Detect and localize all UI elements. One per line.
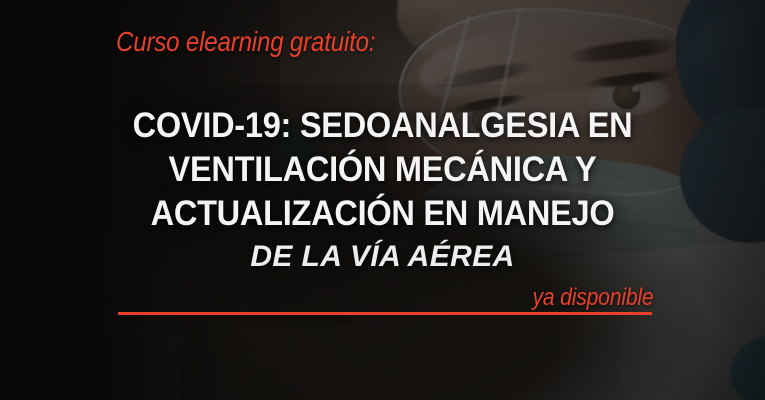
headline-line-3: ACTUALIZACIÓN EN MANEJO xyxy=(27,192,738,236)
eyebrow-text: Curso elearning gratuito: xyxy=(116,26,375,58)
headline-line-2: VENTILACIÓN MECÁNICA Y xyxy=(27,148,738,192)
page-title: COVID-19: SEDOANALGESIA EN VENTILACIÓN M… xyxy=(0,104,765,236)
accent-rule xyxy=(118,312,652,315)
availability-text: ya disponible xyxy=(532,284,653,312)
banner-content: Curso elearning gratuito: COVID-19: SEDO… xyxy=(0,0,765,400)
subheadline-text: DE LA VÍA AÉREA xyxy=(0,240,765,274)
headline-line-1: COVID-19: SEDOANALGESIA EN xyxy=(27,104,738,148)
promo-banner: Curso elearning gratuito: COVID-19: SEDO… xyxy=(0,0,765,400)
